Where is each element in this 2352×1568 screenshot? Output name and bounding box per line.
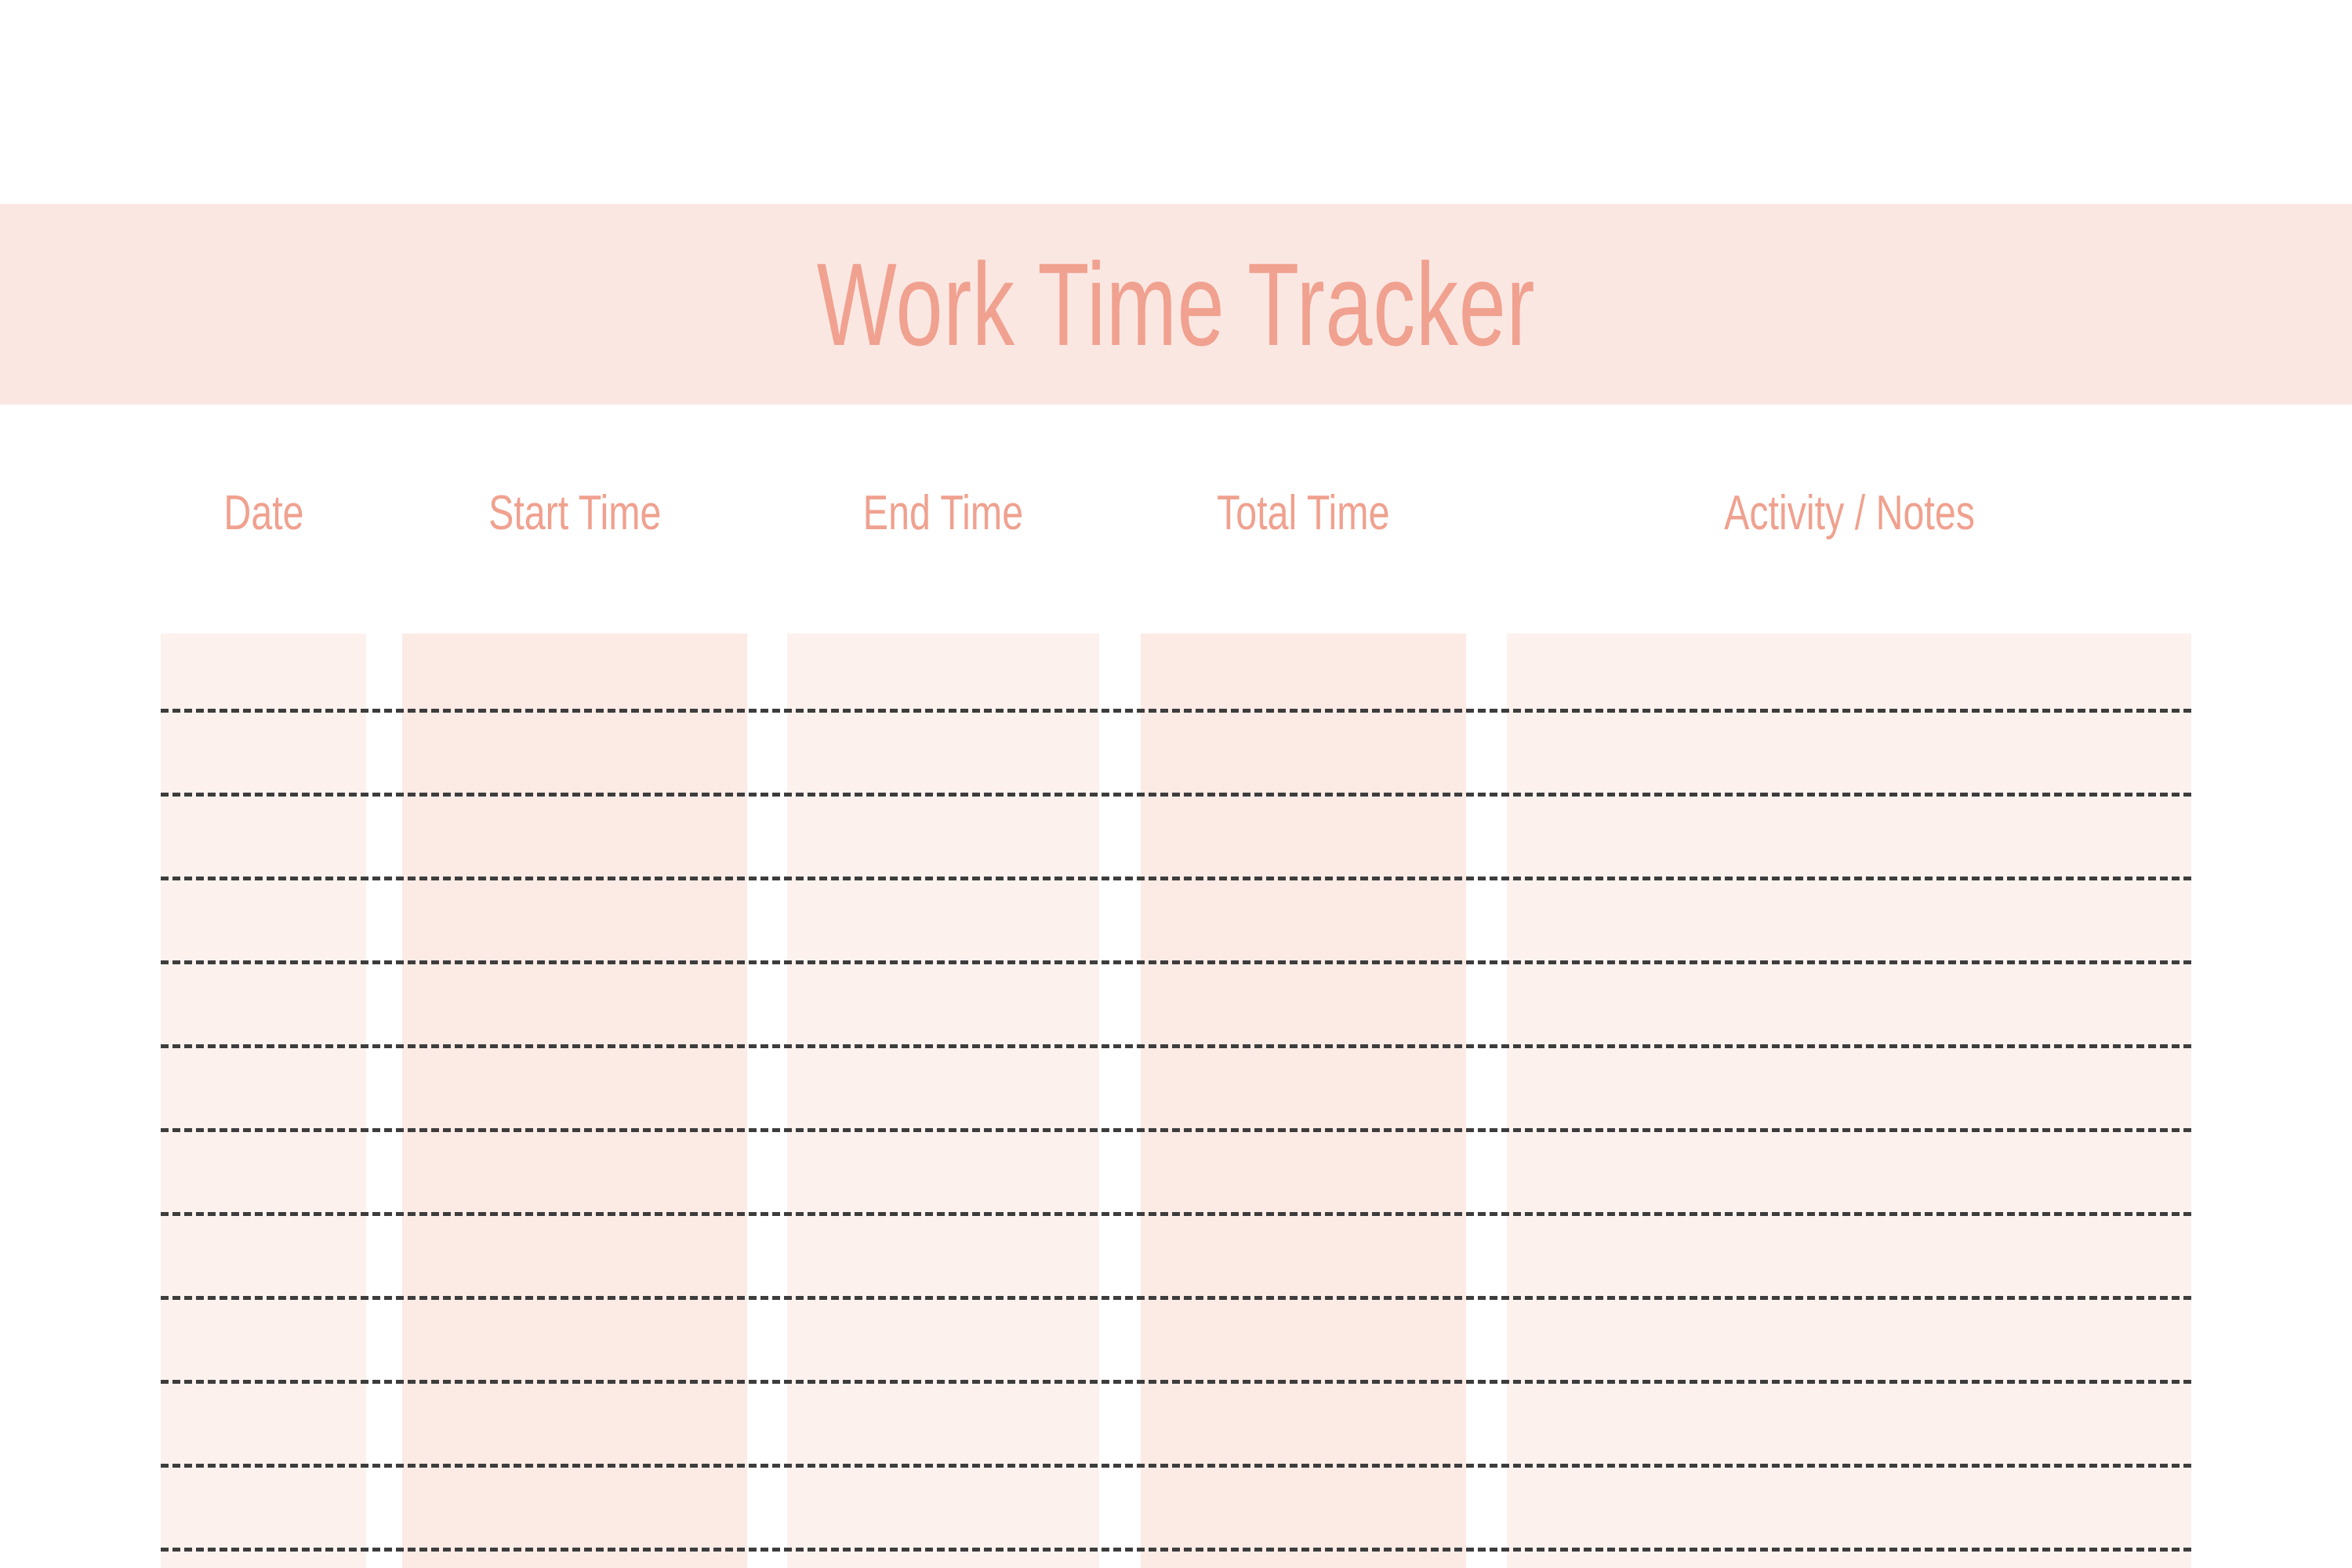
- page-title: Work Time Tracker: [329, 204, 2023, 405]
- row-separator: [161, 1128, 2191, 1132]
- time-log-table: DateStart TimeEnd TimeTotal TimeActivity…: [0, 470, 2352, 1568]
- row-separator: [161, 1044, 2191, 1048]
- table-header-row: DateStart TimeEnd TimeTotal TimeActivity…: [0, 470, 2352, 557]
- row-separator: [161, 877, 2191, 880]
- row-separator: [161, 793, 2191, 797]
- column-header-date: Date: [161, 470, 366, 557]
- table-row-separators: [0, 633, 2352, 1568]
- row-separator: [161, 1464, 2191, 1468]
- row-separator: [161, 960, 2191, 964]
- column-header-end-time: End Time: [787, 470, 1099, 557]
- title-banner: Work Time Tracker: [0, 204, 2352, 405]
- row-separator: [161, 1380, 2191, 1384]
- column-header-total-time: Total Time: [1141, 470, 1466, 557]
- column-header-label: Date: [223, 489, 303, 538]
- column-header-label: Total Time: [1217, 489, 1389, 538]
- column-header-label: Start Time: [488, 489, 661, 538]
- row-separator: [161, 1548, 2191, 1552]
- column-header-label: End Time: [863, 489, 1023, 538]
- column-header-label: Activity / Notes: [1724, 489, 1975, 538]
- column-header-start-time: Start Time: [402, 470, 747, 557]
- column-header-activity-notes: Activity / Notes: [1507, 470, 2191, 557]
- row-separator: [161, 1212, 2191, 1216]
- row-separator: [161, 709, 2191, 713]
- row-separator: [161, 1296, 2191, 1300]
